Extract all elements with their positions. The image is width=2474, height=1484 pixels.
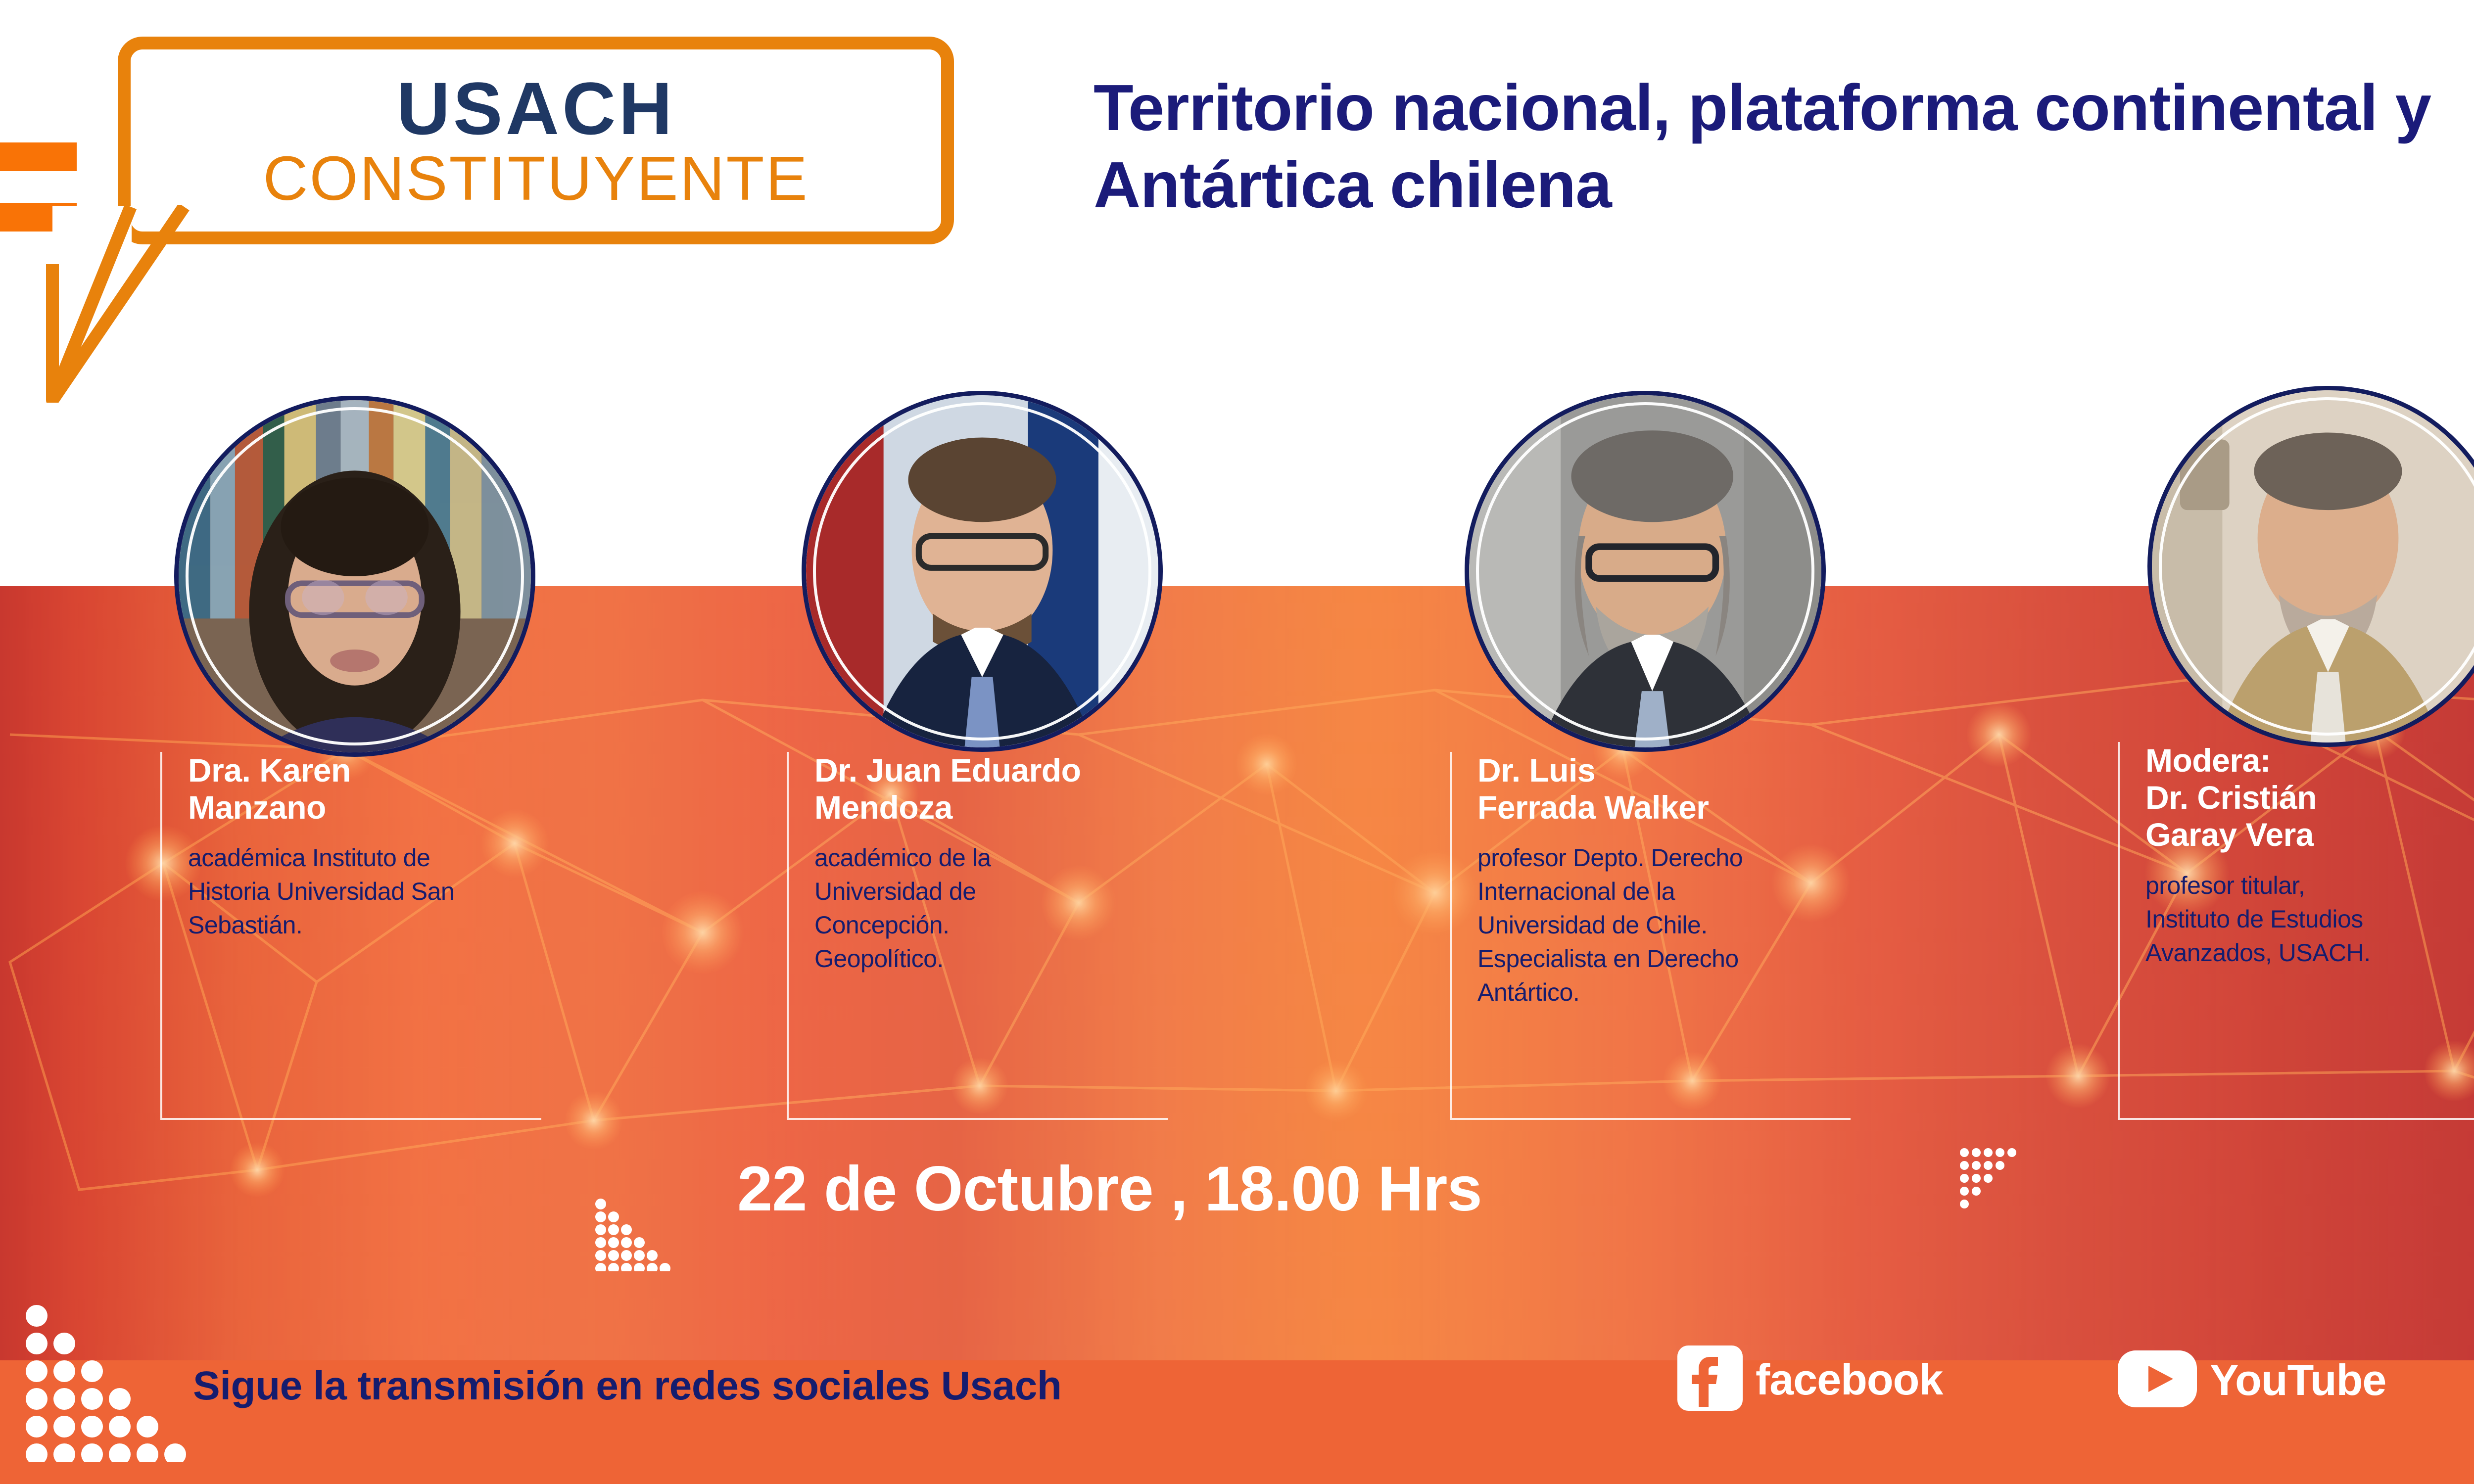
dot-triangle-decoration (25, 1304, 198, 1465)
speaker-name: Dr. Luis Ferrada Walker (1477, 752, 1860, 826)
speaker-card: Dr. Juan Eduardo Mendoza académico de la… (787, 752, 1178, 975)
column-underline (787, 1118, 1168, 1120)
column-underline (2118, 1118, 2474, 1120)
speaker-card: Dr. Luis Ferrada Walker profesor Depto. … (1450, 752, 1860, 1009)
dot-triangle-decoration (594, 1197, 673, 1274)
facebook-link[interactable]: facebook (1677, 1345, 1943, 1413)
event-datetime: 22 de Octubre , 18.00 Hrs (737, 1153, 1482, 1225)
speaker-role: profesor Depto. Derecho Internacional de… (1477, 841, 1860, 1009)
speaker-role: académica Instituto de Historia Universi… (188, 841, 551, 942)
avatar (802, 391, 1163, 752)
speaker-card: Modera: Dr. Cristián Garay Vera profesor… (2118, 742, 2474, 970)
speaker-name: Dra. Karen Manzano (188, 752, 551, 826)
avatar (174, 396, 535, 757)
speech-bubble-tail-icon (38, 205, 245, 405)
youtube-label: YouTube (2210, 1355, 2386, 1405)
page-title: Territorio nacional, plataforma continen… (1094, 69, 2474, 224)
avatar (1465, 391, 1826, 752)
youtube-icon (2118, 1350, 2197, 1410)
equals-bar-top-left-icon (0, 142, 77, 171)
column-divider (1450, 752, 1452, 1118)
logo-usach-text: USACH (396, 71, 675, 145)
youtube-link[interactable]: YouTube (2118, 1350, 2386, 1410)
column-underline (160, 1118, 541, 1120)
speaker-card: Dra. Karen Manzano académica Instituto d… (160, 752, 551, 942)
column-divider (160, 752, 162, 1118)
speaker-name: Modera: Dr. Cristián Garay Vera (2145, 742, 2474, 854)
speaker-name: Dr. Juan Eduardo Mendoza (814, 752, 1178, 826)
dot-triangle-decoration (1959, 1148, 2034, 1224)
follow-us-text: Sigue la transmisión en redes sociales U… (193, 1363, 1061, 1409)
column-underline (1450, 1118, 1851, 1120)
speaker-role: académico de la Universidad de Concepció… (814, 841, 1178, 975)
column-divider (787, 752, 789, 1118)
facebook-icon (1677, 1345, 1743, 1413)
event-poster: USACH CONSTITUYENTE Territorio nacional,… (0, 0, 2474, 1484)
column-divider (2118, 742, 2120, 1118)
speaker-role: profesor titular, Instituto de Estudios … (2145, 869, 2474, 970)
logo-constituyente-text: CONSTITUYENTE (263, 147, 809, 210)
facebook-label: facebook (1756, 1354, 1943, 1405)
